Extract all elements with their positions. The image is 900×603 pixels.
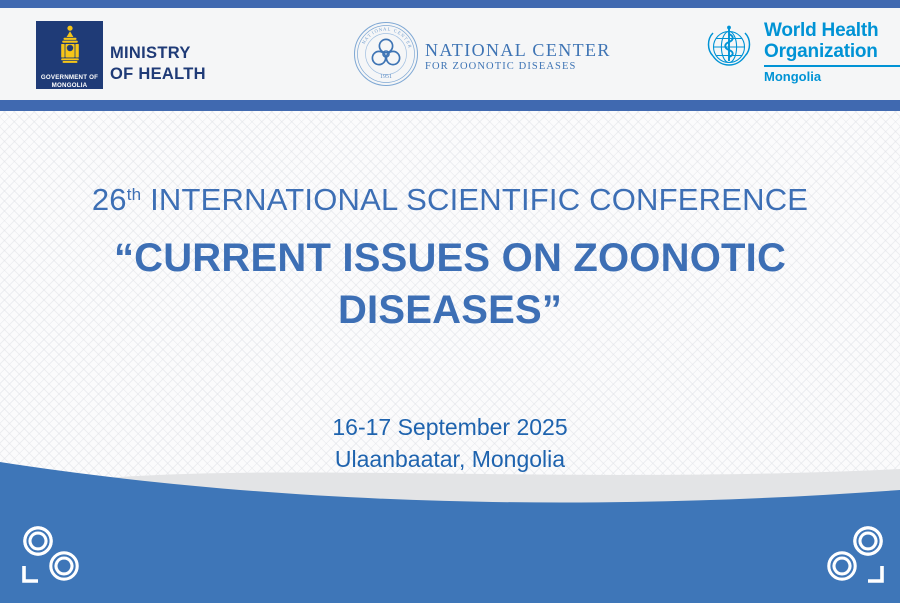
national-center-line1: NATIONAL CENTER <box>425 40 611 60</box>
who-title-line2: Organization <box>764 41 900 62</box>
who-logo: World Health Organization Mongolia <box>700 20 900 84</box>
biohazard-seal-icon: 1951 N A T I O N A L C E N T E R <box>353 21 419 92</box>
ministry-of-health-emblem: GOVERNMENT OF MONGOLIA <box>36 21 103 89</box>
soyombo-icon <box>57 25 83 72</box>
conference-theme-line2: DISEASES” <box>0 284 900 336</box>
national-center-logo: 1951 N A T I O N A L C E N T E R <box>353 21 611 92</box>
conference-theme-line1: “CURRENT ISSUES ON ZOONOTIC <box>0 232 900 284</box>
who-title-line1: World Health <box>764 20 900 41</box>
event-location: Ulaanbaatar, Mongolia <box>0 443 900 475</box>
conference-edition-line: 26th INTERNATIONAL SCIENTIFIC CONFERENCE <box>0 175 900 220</box>
event-details: 16-17 September 2025 Ulaanbaatar, Mongol… <box>0 411 900 475</box>
who-emblem-icon <box>700 20 758 83</box>
ministry-title-line2: OF HEALTH <box>110 64 206 85</box>
title-block: 26th INTERNATIONAL SCIENTIFIC CONFERENCE… <box>0 175 900 336</box>
edition-number: 26 <box>92 182 127 217</box>
ulzii-knot-icon-left <box>14 521 88 592</box>
conference-theme: “CURRENT ISSUES ON ZOONOTIC DISEASES” <box>0 232 900 336</box>
who-divider <box>764 65 900 67</box>
conference-title-slide: GOVERNMENT OF MONGOLIA MINISTRY OF HEALT… <box>0 0 900 603</box>
svg-text:R: R <box>407 44 413 49</box>
svg-text:L: L <box>387 27 391 32</box>
top-accent-rule <box>0 0 900 8</box>
national-center-line2: FOR ZOONOTIC DISEASES <box>425 60 611 74</box>
who-country-label: Mongolia <box>764 69 900 84</box>
ministry-of-health-title: MINISTRY OF HEALTH <box>110 43 206 85</box>
edition-rest: INTERNATIONAL SCIENTIFIC CONFERENCE <box>141 182 808 217</box>
header-accent-rule <box>0 100 900 111</box>
slide-body: 26th INTERNATIONAL SCIENTIFIC CONFERENCE… <box>0 111 900 603</box>
ulzii-knot-icon-right <box>818 521 892 592</box>
seal-year: 1951 <box>380 74 392 80</box>
edition-ordinal: th <box>127 185 142 204</box>
emblem-caption: GOVERNMENT OF MONGOLIA <box>41 74 98 90</box>
event-date: 16-17 September 2025 <box>0 411 900 443</box>
ministry-title-line1: MINISTRY <box>110 43 206 64</box>
